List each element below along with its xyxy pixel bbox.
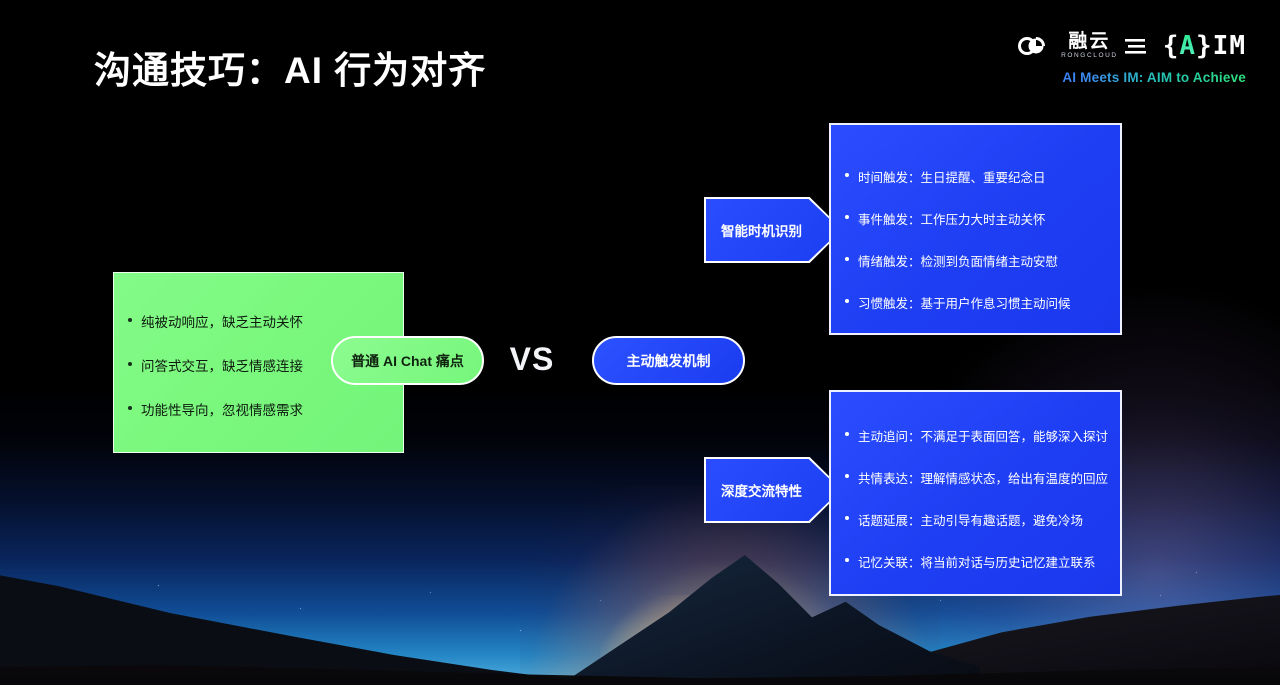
feature-item: 事件触发：工作压力大时主动关怀 bbox=[845, 209, 1110, 228]
timing-feature-card: 时间触发：生日提醒、重要纪念日事件触发：工作压力大时主动关怀情绪触发：检测到负面… bbox=[829, 123, 1122, 335]
bullet-dot-icon bbox=[845, 173, 849, 177]
aim-suffix: }IM bbox=[1196, 31, 1246, 61]
bullet-text: 话题延展：主动引导有趣话题，避免冷场 bbox=[858, 510, 1083, 529]
bullet-dot-icon bbox=[128, 362, 132, 366]
bullet-text: 纯被动响应，缺乏主动关怀 bbox=[141, 311, 303, 331]
aim-wordmark: {A}IM bbox=[1163, 33, 1246, 59]
pain-point-item: 纯被动响应，缺乏主动关怀 bbox=[128, 311, 393, 331]
brand-logo: 融云 RONGCLOUD {A}IM AI Meets IM: AIM to A… bbox=[1016, 28, 1246, 85]
bullet-text: 情绪触发：检测到负面情绪主动安慰 bbox=[858, 251, 1058, 270]
bullet-dot-icon bbox=[128, 406, 132, 410]
bullet-text: 习惯触发：基于用户作息习惯主动问候 bbox=[858, 293, 1071, 312]
timing-feature-list: 时间触发：生日提醒、重要纪念日事件触发：工作压力大时主动关怀情绪触发：检测到负面… bbox=[845, 167, 1110, 335]
slide-canvas: 沟通技巧：AI 行为对齐 融云 RONGCLOUD {A}IM bbox=[0, 0, 1280, 685]
rings-icon bbox=[1016, 34, 1056, 58]
depth-feature-card: 主动追问：不满足于表面回答，能够深入探讨共情表达：理解情感状态，给出有温度的回应… bbox=[829, 390, 1122, 596]
bullet-dot-icon bbox=[845, 516, 849, 520]
bullet-text: 共情表达：理解情感状态，给出有温度的回应 bbox=[858, 468, 1108, 487]
feature-item: 习惯触发：基于用户作息习惯主动问候 bbox=[845, 293, 1110, 312]
rongcloud-logo: 融云 RONGCLOUD bbox=[1016, 32, 1149, 60]
bullet-dot-icon bbox=[845, 257, 849, 261]
feature-item: 话题延展：主动引导有趣话题，避免冷场 bbox=[845, 510, 1110, 529]
logo-tagline: AI Meets IM: AIM to Achieve bbox=[1016, 70, 1246, 85]
page-title: 沟通技巧：AI 行为对齐 bbox=[94, 40, 486, 94]
bullet-text: 时间触发：生日提醒、重要纪念日 bbox=[858, 167, 1046, 186]
feature-item: 共情表达：理解情感状态，给出有温度的回应 bbox=[845, 468, 1110, 487]
bullet-dot-icon bbox=[845, 299, 849, 303]
bullet-text: 问答式交互，缺乏情感连接 bbox=[141, 355, 303, 375]
arrow-tag-label: 深度交流特性 bbox=[721, 480, 802, 500]
cloud-glyph-icon bbox=[1123, 36, 1149, 56]
bullet-text: 主动追问：不满足于表面回答，能够深入探讨 bbox=[858, 426, 1108, 445]
bullet-text: 记忆关联：将当前对话与历史记忆建立联系 bbox=[858, 552, 1096, 571]
arrow-tag-depth[interactable]: 深度交流特性 bbox=[704, 457, 843, 523]
bullet-text: 事件触发：工作压力大时主动关怀 bbox=[858, 209, 1046, 228]
arrow-tag-label: 智能时机识别 bbox=[721, 220, 802, 240]
feature-item: 记忆关联：将当前对话与历史记忆建立联系 bbox=[845, 552, 1110, 571]
star-dot bbox=[600, 600, 601, 601]
aim-letter-a: A bbox=[1179, 31, 1196, 61]
pill-proactive-trigger[interactable]: 主动触发机制 bbox=[592, 336, 745, 385]
bullet-dot-icon bbox=[128, 318, 132, 322]
pill-pain-points[interactable]: 普通 AI Chat 痛点 bbox=[331, 336, 484, 385]
bullet-dot-icon bbox=[845, 215, 849, 219]
bullet-dot-icon bbox=[845, 558, 849, 562]
logo-brand-cn: 融云 bbox=[1068, 32, 1110, 51]
feature-item: 主动追问：不满足于表面回答，能够深入探讨 bbox=[845, 426, 1110, 445]
aim-brace-open: { bbox=[1163, 31, 1180, 61]
vs-label: VS bbox=[509, 341, 555, 378]
pain-point-item: 功能性导向，忽视情感需求 bbox=[128, 399, 393, 419]
arrow-tag-timing[interactable]: 智能时机识别 bbox=[704, 197, 843, 263]
depth-feature-list: 主动追问：不满足于表面回答，能够深入探讨共情表达：理解情感状态，给出有温度的回应… bbox=[845, 426, 1110, 594]
bullet-text: 功能性导向，忽视情感需求 bbox=[141, 399, 303, 419]
feature-item: 时间触发：生日提醒、重要纪念日 bbox=[845, 167, 1110, 186]
feature-item: 情绪触发：检测到负面情绪主动安慰 bbox=[845, 251, 1110, 270]
bullet-dot-icon bbox=[845, 432, 849, 436]
bullet-dot-icon bbox=[845, 474, 849, 478]
logo-brand-en: RONGCLOUD bbox=[1061, 53, 1118, 60]
